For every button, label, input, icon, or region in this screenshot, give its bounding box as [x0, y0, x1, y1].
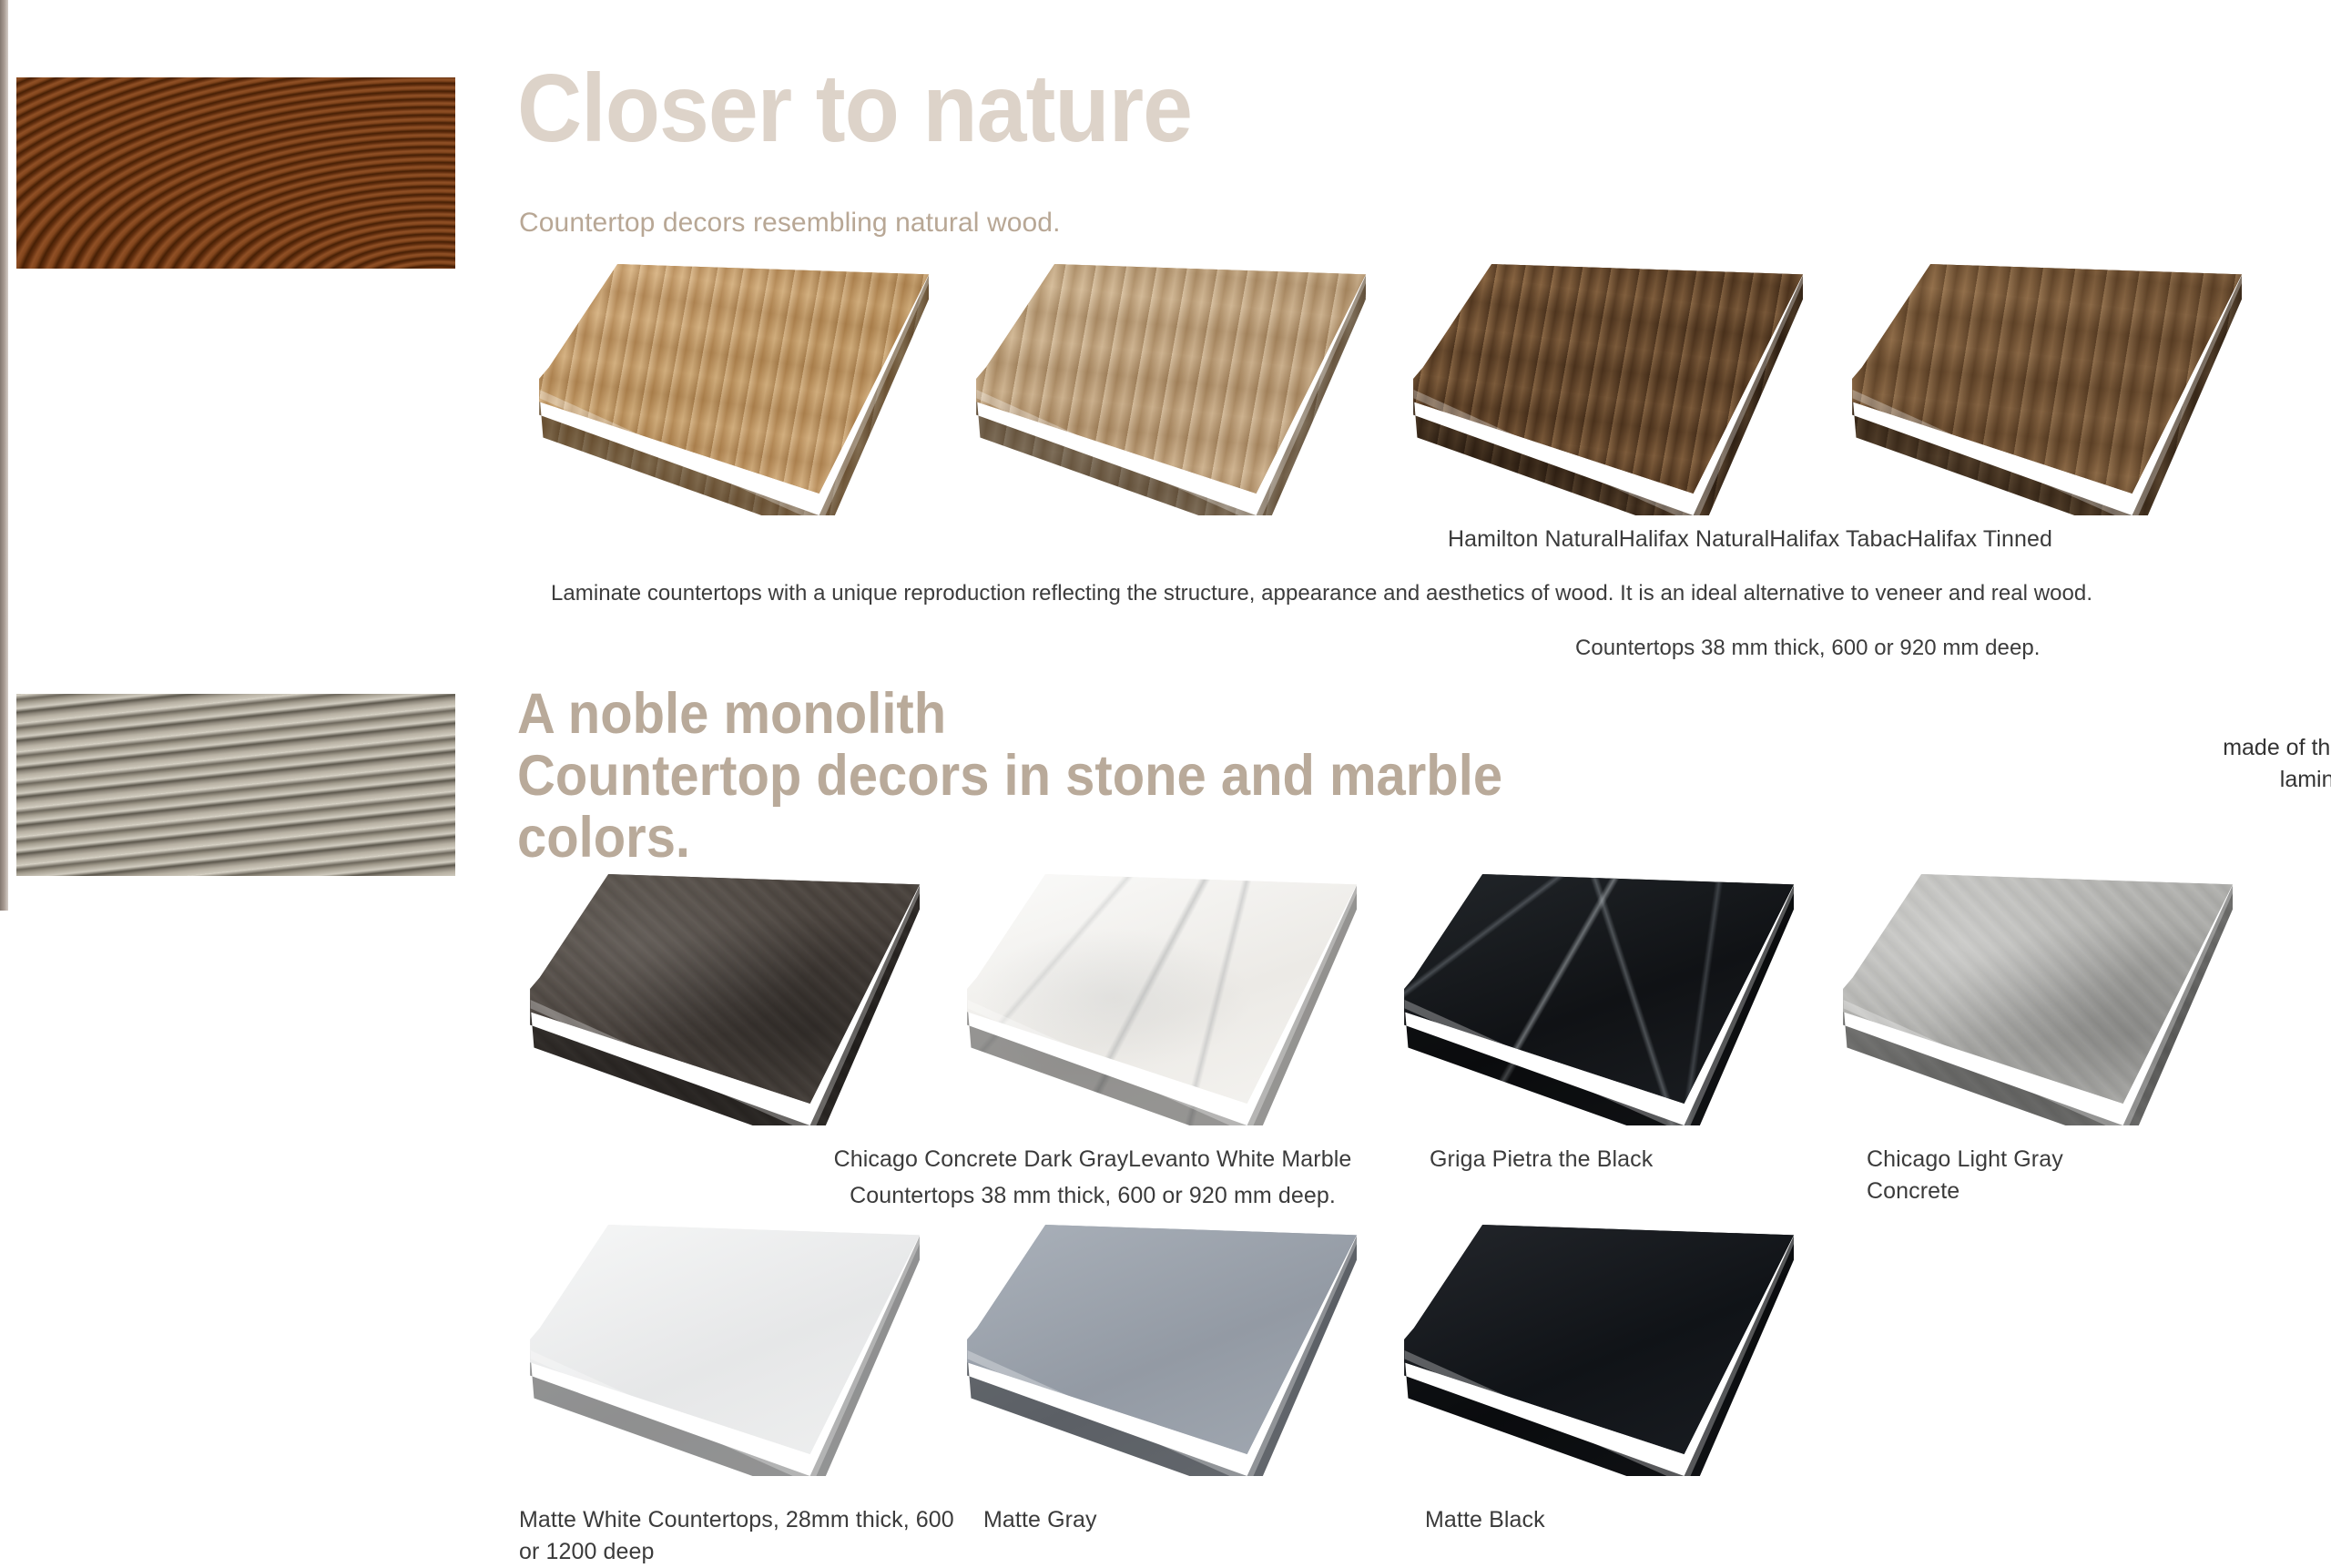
sample-halifax-tabac[interactable]	[1411, 264, 1839, 519]
section-1-body: Laminate countertops with a unique repro…	[551, 581, 2092, 606]
sample-levanto-white-marble[interactable]	[965, 874, 1393, 1129]
wood-samples-caption: Hamilton NaturalHalifax NaturalHalifax T…	[1448, 524, 2331, 555]
wood-rings-texture-image	[16, 77, 455, 269]
slab-top	[1402, 1225, 1794, 1454]
egger-note-line-1: We make fronts	[2222, 699, 2331, 732]
sample-hamilton-natural[interactable]	[537, 264, 965, 519]
section-2-heading-line-2: Countertop decors in stone and marble	[517, 745, 1690, 807]
sample-matte-gray[interactable]	[965, 1225, 1393, 1480]
section-1-subtitle: Countertop decors resembling natural woo…	[519, 208, 1061, 239]
stone-row-2-caption-matte-black: Matte Black	[1425, 1504, 1698, 1536]
stone-sample-row-1	[510, 874, 2331, 1147]
sample-matte-white[interactable]	[528, 1225, 956, 1480]
slab-render	[965, 1225, 1393, 1480]
left-decorative-rail	[0, 0, 455, 1568]
content-column: Closer to nature Countertop decors resem…	[510, 0, 2331, 1568]
slab-render	[528, 874, 956, 1129]
stone-row-1-caption-joined: Chicago Concrete Dark GrayLevanto White …	[674, 1144, 1512, 1176]
slab-top	[1402, 874, 1794, 1104]
slab-top	[528, 1225, 920, 1454]
section-1-spec: Countertops 38 mm thick, 600 or 920 mm d…	[1575, 636, 2040, 661]
stone-row-1-spec: Countertops 38 mm thick, 600 or 920 mm d…	[674, 1180, 1512, 1212]
weathered-stone-texture-image	[16, 694, 455, 876]
slab-top	[537, 264, 929, 494]
slab-render	[1411, 264, 1839, 519]
slab-render	[528, 1225, 956, 1480]
stone-row-2-caption-matte-gray: Matte Gray	[983, 1504, 1257, 1536]
slab-top	[965, 874, 1357, 1104]
stone-sample-row-2	[510, 1225, 2331, 1498]
sample-chicago-light-gray-concrete[interactable]	[1841, 874, 2269, 1129]
slab-top	[528, 874, 920, 1104]
slab-top	[1411, 264, 1803, 494]
slab-render	[965, 874, 1393, 1129]
slab-top	[1841, 874, 2233, 1104]
slab-top	[965, 1225, 1357, 1454]
slab-render	[1841, 874, 2269, 1129]
sample-griga-pietra-the-black[interactable]	[1402, 874, 1830, 1129]
weathered-stone-texture	[16, 694, 455, 876]
slab-top	[974, 264, 1366, 494]
egger-note-line-3: laminated board from	[2222, 764, 2331, 797]
sample-matte-black[interactable]	[1402, 1225, 1830, 1480]
sample-halifax-tinned[interactable]	[1850, 264, 2278, 519]
egger-note-line-2: made of the highest quality	[2222, 732, 2331, 765]
stone-row-1-caption-griga: Griga Pietra the Black	[1430, 1144, 1703, 1176]
sample-chicago-concrete-dark-gray[interactable]	[528, 874, 956, 1129]
slab-render	[1402, 1225, 1830, 1480]
egger-note: We make fronts made of the highest quali…	[2222, 699, 2331, 829]
slab-render	[537, 264, 965, 519]
rail-edge-gradient	[0, 0, 8, 911]
egger-note-line-4: EGGER	[2222, 797, 2331, 830]
wood-rings-texture	[16, 77, 455, 269]
slab-render	[1402, 874, 1830, 1129]
section-2-heading: A noble monolith Countertop decors in st…	[517, 683, 1690, 869]
slab-top	[1850, 264, 2242, 494]
section-1-heading: Closer to nature	[517, 60, 1192, 157]
stone-row-2-caption-matte-white: Matte White Countertops, 28mm thick, 600…	[519, 1504, 965, 1567]
slab-render	[974, 264, 1402, 519]
section-2-heading-line-3: colors.	[517, 807, 1690, 869]
slab-render	[1850, 264, 2278, 519]
stone-row-1-caption-chicago-light: Chicago Light Gray Concrete	[1867, 1144, 2131, 1207]
brochure-page: Closer to nature Countertop decors resem…	[0, 0, 2331, 1568]
wood-sample-row	[510, 264, 2331, 537]
section-2-heading-line-1: A noble monolith	[517, 683, 1690, 745]
sample-halifax-natural[interactable]	[974, 264, 1402, 519]
